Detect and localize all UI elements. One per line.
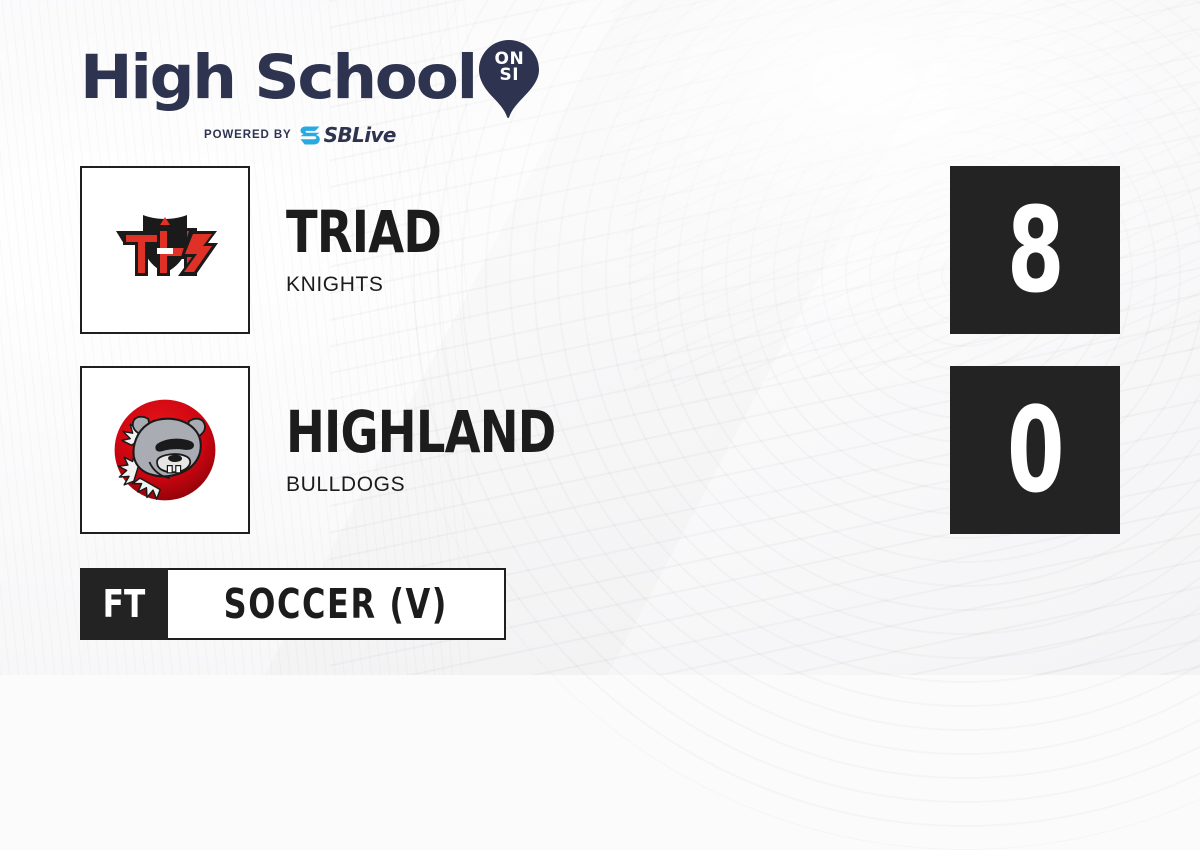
team-name-away: HIGHLAND: [286, 403, 555, 461]
sblive-wordmark: SBLive: [324, 123, 396, 147]
sblive-logo: SBLive: [299, 123, 396, 147]
highland-bulldog-logo: [105, 390, 225, 510]
pin-label: ON SI: [478, 51, 540, 83]
score-box-away: 0: [950, 366, 1120, 534]
sblive-s-icon: [299, 125, 321, 146]
team-row-home: TRIAD KNIGHTS: [80, 166, 480, 334]
powered-by-label: POWERED BY: [204, 129, 292, 141]
brand-title: High School: [80, 49, 476, 107]
status-badge: FT: [80, 568, 168, 640]
team-row-away: HIGHLAND BULLDOGS: [80, 366, 623, 534]
triad-ths-shield-logo: [105, 200, 225, 300]
team-mascot-away: BULLDOGS: [286, 473, 623, 497]
team-mascot-home: KNIGHTS: [286, 273, 480, 297]
map-pin-icon: ON SI: [478, 40, 540, 118]
pin-label-line2: SI: [478, 67, 540, 83]
sport-label: SOCCER (V): [224, 580, 448, 628]
team-info-home: TRIAD KNIGHTS: [286, 203, 480, 297]
game-status-bar: FT SOCCER (V): [80, 568, 506, 640]
brand-header: High School ON SI POWERED BY SBLive: [80, 38, 540, 147]
team-logo-card-home: [80, 166, 250, 334]
sblive-wordmark-bold: SBL: [324, 123, 365, 147]
team-name-home: TRIAD: [286, 203, 441, 261]
brand-title-row: High School ON SI: [80, 38, 540, 118]
status-badge-label: FT: [103, 582, 146, 626]
score-value-home: 8: [1007, 191, 1063, 309]
score-value-away: 0: [1007, 391, 1063, 509]
powered-by-row: POWERED BY SBLive: [204, 123, 396, 147]
sport-label-box: SOCCER (V): [168, 568, 506, 640]
team-info-away: HIGHLAND BULLDOGS: [286, 403, 623, 497]
sblive-wordmark-italic: ive: [364, 123, 396, 147]
team-logo-card-away: [80, 366, 250, 534]
score-box-home: 8: [950, 166, 1120, 334]
